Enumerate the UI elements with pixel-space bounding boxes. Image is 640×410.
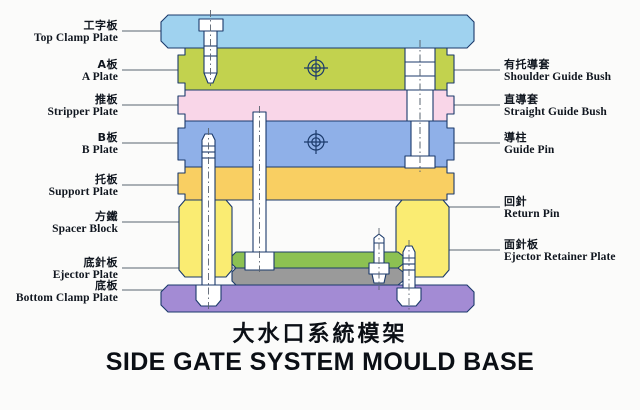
label-ejector-retainer-plate: 面針板 Ejector Retainer Plate xyxy=(504,239,640,264)
label-spacer-block: 方鐵 Spacer Block xyxy=(0,211,118,236)
label-b-plate: B板 B Plate xyxy=(0,132,118,157)
label-guide-pin: 導柱 Guide Pin xyxy=(504,132,640,157)
label-a-plate-cn: A板 xyxy=(0,59,118,71)
label-spacer-block-cn: 方鐵 xyxy=(0,211,118,223)
label-return-pin-cn: 回針 xyxy=(504,196,640,208)
label-support-plate: 托板 Support Plate xyxy=(0,174,118,199)
label-straight-guide-bush-en: Straight Guide Bush xyxy=(504,106,640,119)
diagram-title-cn: 大水口系統模架 xyxy=(0,316,640,348)
label-straight-guide-bush-cn: 直導套 xyxy=(504,94,640,106)
label-stripper-plate: 推板 Stripper Plate xyxy=(0,94,118,119)
label-b-plate-cn: B板 xyxy=(0,132,118,144)
label-support-plate-en: Support Plate xyxy=(0,186,118,199)
label-a-plate: A板 A Plate xyxy=(0,59,118,84)
label-stripper-plate-cn: 推板 xyxy=(0,94,118,106)
label-top-clamp-plate-cn: 工字板 xyxy=(0,20,118,32)
mould-base-diagram-page: 工字板 Top Clamp Plate A板 A Plate 推板 Stripp… xyxy=(0,0,640,410)
label-ejector-plate-cn: 底針板 xyxy=(0,257,118,269)
label-b-plate-en: B Plate xyxy=(0,144,118,157)
label-guide-pin-cn: 導柱 xyxy=(504,132,640,144)
label-straight-guide-bush: 直導套 Straight Guide Bush xyxy=(504,94,640,119)
label-shoulder-guide-bush-cn: 有托導套 xyxy=(504,59,640,71)
label-bottom-clamp-plate-en: Bottom Clamp Plate xyxy=(0,292,118,305)
label-top-clamp-plate-en: Top Clamp Plate xyxy=(0,32,118,45)
label-ejector-retainer-plate-cn: 面針板 xyxy=(504,239,640,251)
label-ejector-retainer-plate-en: Ejector Retainer Plate xyxy=(504,251,640,264)
label-guide-pin-en: Guide Pin xyxy=(504,144,640,157)
label-shoulder-guide-bush-en: Shoulder Guide Bush xyxy=(504,71,640,84)
label-a-plate-en: A Plate xyxy=(0,71,118,84)
label-bottom-clamp-plate: 底板 Bottom Clamp Plate xyxy=(0,280,118,305)
label-spacer-block-en: Spacer Block xyxy=(0,223,118,236)
label-shoulder-guide-bush: 有托導套 Shoulder Guide Bush xyxy=(504,59,640,84)
diagram-title-en: SIDE GATE SYSTEM MOULD BASE xyxy=(0,348,640,377)
label-bottom-clamp-plate-cn: 底板 xyxy=(0,280,118,292)
label-return-pin-en: Return Pin xyxy=(504,208,640,221)
label-return-pin: 回針 Return Pin xyxy=(504,196,640,221)
label-support-plate-cn: 托板 xyxy=(0,174,118,186)
label-stripper-plate-en: Stripper Plate xyxy=(0,106,118,119)
plate-support-plate xyxy=(178,167,454,200)
label-top-clamp-plate: 工字板 Top Clamp Plate xyxy=(0,20,118,45)
